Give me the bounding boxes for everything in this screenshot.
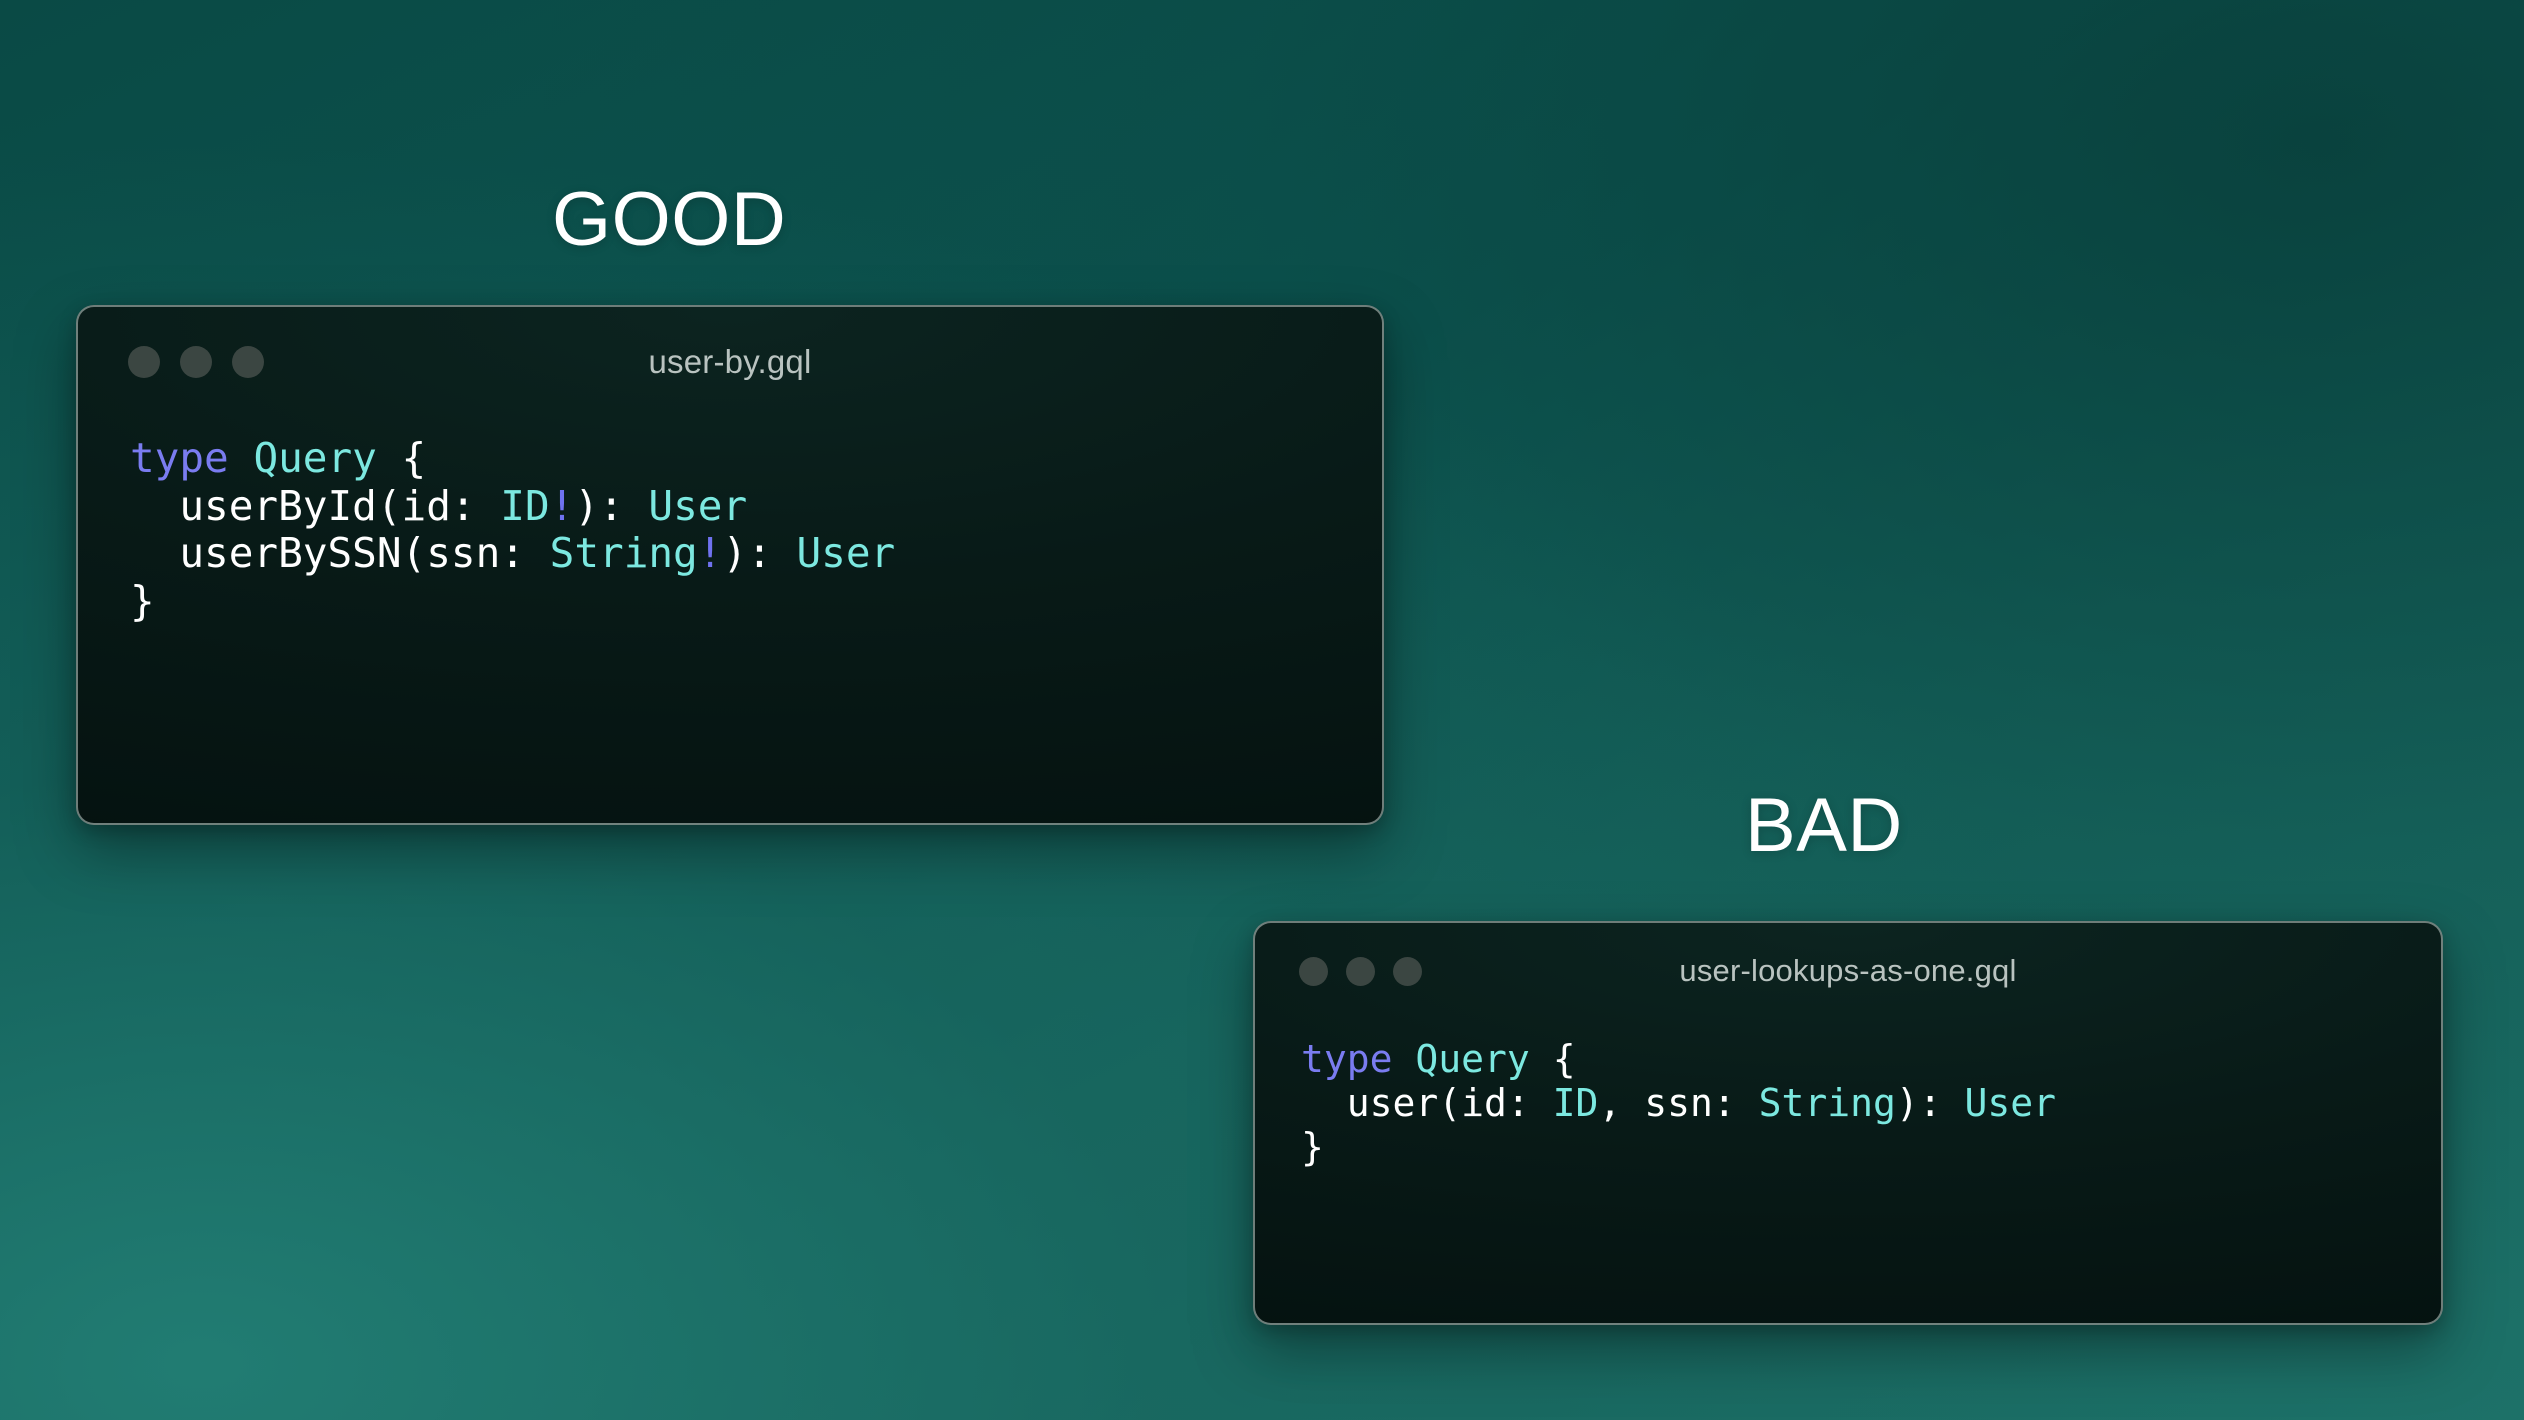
- code-block-good[interactable]: type Query { userById(id: ID!): User use…: [78, 417, 1382, 625]
- code-token: !: [698, 529, 723, 577]
- traffic-light-group: [1255, 957, 1422, 986]
- code-token: User: [797, 529, 896, 577]
- window-titlebar: user-lookups-as-one.gql: [1255, 923, 2441, 1019]
- code-window-good[interactable]: user-by.gql type Query { userById(id: ID…: [76, 305, 1384, 825]
- code-token: User: [648, 482, 747, 530]
- code-token: [1393, 1037, 1416, 1081]
- code-line: }: [130, 578, 1382, 626]
- code-token: !: [550, 482, 575, 530]
- code-token: {: [402, 434, 427, 482]
- code-token: Query: [253, 434, 376, 482]
- code-token: String: [550, 529, 698, 577]
- code-line: type Query {: [1301, 1037, 2441, 1081]
- code-token: }: [1301, 1125, 1324, 1169]
- bad-example-label: BAD: [1745, 788, 1903, 864]
- code-block-bad[interactable]: type Query { user(id: ID, ssn: String): …: [1255, 1019, 2441, 1169]
- code-line: userById(id: ID!): User: [130, 483, 1382, 531]
- code-token: userBySSN(ssn:: [130, 529, 550, 577]
- code-token: ): [722, 529, 747, 577]
- good-example-label: GOOD: [552, 182, 786, 258]
- code-token: {: [1553, 1037, 1576, 1081]
- traffic-light-group: [78, 346, 264, 378]
- code-token: type: [1301, 1037, 1393, 1081]
- code-line: userBySSN(ssn: String!): User: [130, 530, 1382, 578]
- code-token: [1530, 1037, 1553, 1081]
- code-token: :: [599, 482, 648, 530]
- code-token: [377, 434, 402, 482]
- minimize-dot-icon[interactable]: [1346, 957, 1375, 986]
- code-token: ID: [1553, 1081, 1599, 1125]
- code-token: String: [1759, 1081, 1896, 1125]
- code-token: Query: [1415, 1037, 1529, 1081]
- code-token: }: [130, 577, 155, 625]
- minimize-dot-icon[interactable]: [180, 346, 212, 378]
- code-line: type Query {: [130, 435, 1382, 483]
- code-token: type: [130, 434, 229, 482]
- code-token: ID: [500, 482, 549, 530]
- code-window-bad[interactable]: user-lookups-as-one.gql type Query { use…: [1253, 921, 2443, 1325]
- window-filename-bad: user-lookups-as-one.gql: [1255, 953, 2441, 989]
- window-titlebar: user-by.gql: [78, 307, 1382, 417]
- code-token: userById(id:: [130, 482, 500, 530]
- code-token: ): [574, 482, 599, 530]
- close-dot-icon[interactable]: [1299, 957, 1328, 986]
- code-token: ): [1896, 1081, 1919, 1125]
- code-token: user(id:: [1301, 1081, 1553, 1125]
- code-token: [229, 434, 254, 482]
- maximize-dot-icon[interactable]: [232, 346, 264, 378]
- window-filename-good: user-by.gql: [78, 343, 1382, 381]
- code-token: User: [1965, 1081, 2057, 1125]
- slide-canvas: GOOD user-by.gql type Query { userById(i…: [0, 0, 2524, 1420]
- maximize-dot-icon[interactable]: [1393, 957, 1422, 986]
- code-token: :: [747, 529, 796, 577]
- code-token: , ssn:: [1598, 1081, 1758, 1125]
- code-token: :: [1919, 1081, 1965, 1125]
- code-line: }: [1301, 1125, 2441, 1169]
- code-line: user(id: ID, ssn: String): User: [1301, 1081, 2441, 1125]
- close-dot-icon[interactable]: [128, 346, 160, 378]
